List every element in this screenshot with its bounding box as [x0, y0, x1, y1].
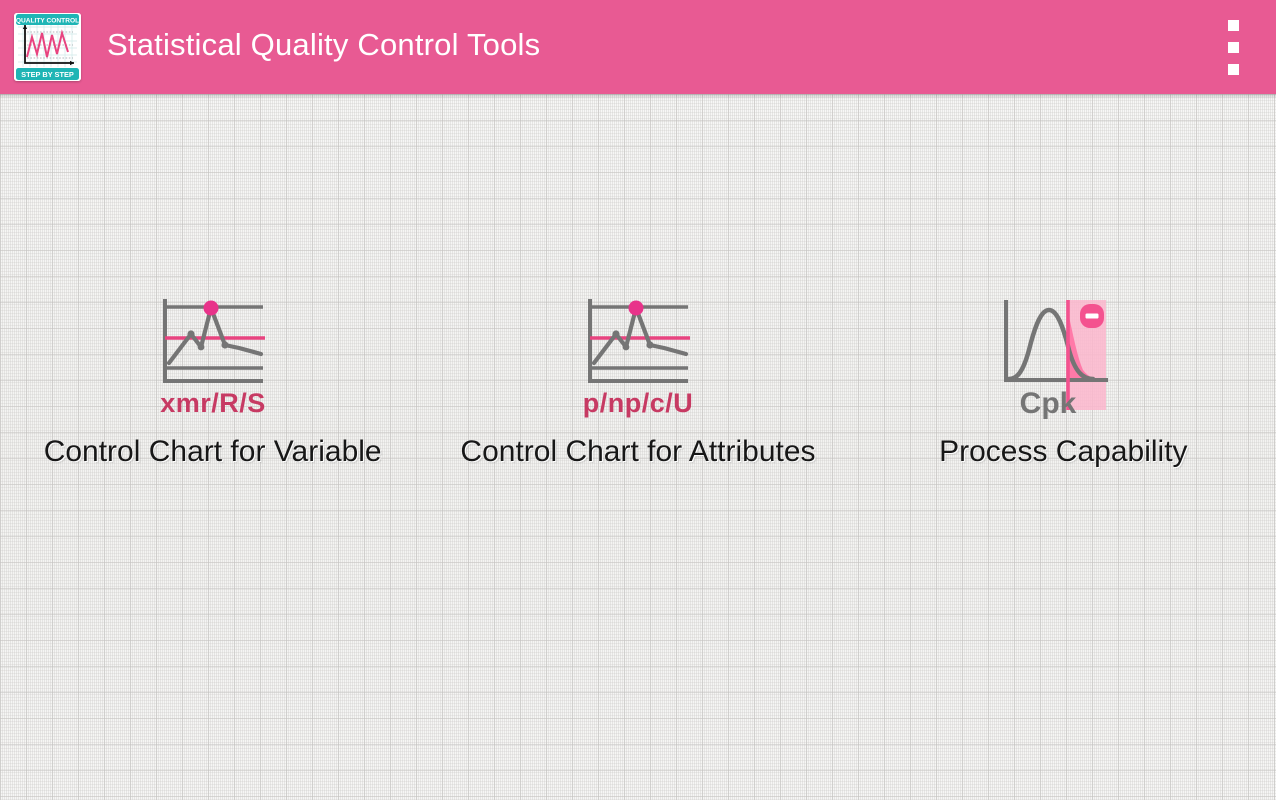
icon-caption: p/np/c/U	[583, 388, 694, 418]
tool-grid: xmr/R/S Control Chart for Variable p/	[0, 94, 1276, 800]
tile-label-control-chart-attributes: Control Chart for Attributes	[438, 427, 838, 477]
icon-caption: Cpk	[1020, 387, 1077, 420]
tile-label-control-chart-variable: Control Chart for Variable	[13, 427, 413, 477]
quality-control-step-by-step-logo-icon: QUALITY CONTROL STEP BY STEP	[14, 13, 81, 81]
more-vert-dot-1	[1228, 20, 1239, 31]
app-root: QUALITY CONTROL STEP BY STEP Statistical…	[0, 0, 1276, 800]
more-vert-dot-3	[1228, 64, 1239, 75]
data-point	[197, 344, 204, 351]
data-point	[623, 344, 630, 351]
data-series-line	[594, 308, 686, 363]
no-entry-badge-icon	[1080, 304, 1104, 328]
app-title: Statistical Quality Control Tools	[107, 27, 540, 63]
data-point	[646, 341, 653, 348]
tile-control-chart-attributes[interactable]: p/np/c/U Control Chart for Attributes	[425, 290, 850, 477]
tile-label-process-capability: Process Capability	[863, 427, 1263, 477]
tile-control-chart-variable[interactable]: xmr/R/S Control Chart for Variable	[0, 290, 425, 477]
data-point	[221, 341, 228, 348]
process-capability-icon: Cpk	[993, 290, 1133, 420]
more-vert-icon[interactable]	[1227, 20, 1239, 75]
tile-process-capability[interactable]: Cpk Process Capability	[851, 290, 1276, 477]
logo-top-text: QUALITY CONTROL	[16, 18, 79, 25]
icon-caption: xmr/R/S	[160, 388, 266, 418]
app-bar: QUALITY CONTROL STEP BY STEP Statistical…	[0, 0, 1276, 94]
data-point	[612, 330, 619, 337]
out-of-control-point	[628, 301, 643, 316]
control-chart-variable-icon: xmr/R/S	[143, 290, 283, 420]
more-vert-dot-2	[1228, 42, 1239, 53]
data-series-line	[169, 308, 261, 363]
control-chart-attributes-icon: p/np/c/U	[568, 290, 708, 420]
app-logo: QUALITY CONTROL STEP BY STEP	[14, 13, 81, 81]
logo-bottom-text: STEP BY STEP	[21, 70, 74, 79]
out-of-control-point	[203, 301, 218, 316]
data-point	[187, 330, 194, 337]
